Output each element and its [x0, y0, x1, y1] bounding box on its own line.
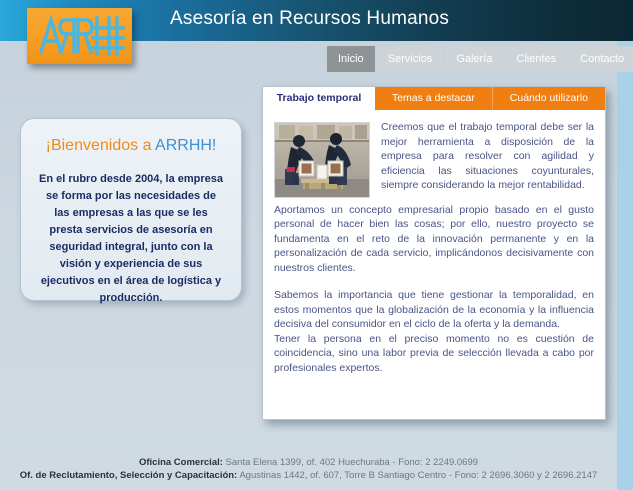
workers-photo [274, 122, 370, 198]
footer-line-2: Of. de Reclutamiento, Selección y Capaci… [0, 469, 617, 482]
nav-item-contacto[interactable]: Contacto [569, 46, 633, 72]
content-tabs[interactable]: Trabajo temporal Temas a destacar Cuándo… [263, 87, 605, 110]
welcome-title-part1: ¡Bienvenidos a [46, 137, 155, 154]
welcome-title: ¡Bienvenidos a ARRHH! [35, 137, 227, 155]
site-footer: Oficina Comercial: Santa Elena 1399, of.… [0, 456, 617, 482]
nav-item-servicios[interactable]: Servicios [377, 46, 444, 72]
tab-cuando-utilizarlo[interactable]: Cuándo utilizarlo [493, 87, 605, 110]
logo[interactable] [27, 8, 132, 64]
page-title: Asesoría en Recursos Humanos [170, 8, 449, 30]
welcome-body-text: En el rubro desde 2004, la empresa se fo… [35, 171, 227, 307]
nav-item-galeria[interactable]: Galería [445, 46, 503, 72]
content-body: Creemos que el trabajo temporal debe ser… [263, 110, 605, 375]
welcome-box: ¡Bienvenidos a ARRHH! En el rubro desde … [20, 118, 242, 301]
paragraph-2: Aportamos un concepto empresarial propio… [274, 203, 594, 276]
workers-warehouse-image [275, 123, 369, 197]
welcome-title-part2: ARRHH! [155, 137, 216, 154]
paragraph-4: Tener la persona en el preciso momento n… [274, 332, 594, 376]
footer-line-1-label: Oficina Comercial: [139, 457, 223, 468]
arrhh-logo-icon [27, 8, 132, 64]
footer-line-2-value: Agustinas 1442, of. 607, Torre B Santiag… [237, 470, 597, 481]
footer-line-1-value: Santa Elena 1399, of. 402 Huechuraba - F… [223, 457, 478, 468]
tab-temas-a-destacar[interactable]: Temas a destacar [375, 87, 493, 110]
content-panel: Trabajo temporal Temas a destacar Cuándo… [262, 86, 606, 420]
footer-line-1: Oficina Comercial: Santa Elena 1399, of.… [0, 456, 617, 469]
tab-trabajo-temporal[interactable]: Trabajo temporal [263, 87, 375, 110]
intro-row: Creemos que el trabajo temporal debe ser… [274, 120, 594, 203]
nav-item-clientes[interactable]: Clientes [505, 46, 567, 72]
page-root: Asesoría en Recursos Humanos [0, 0, 633, 490]
nav-item-inicio[interactable]: Inicio [327, 46, 375, 72]
footer-line-2-label: Of. de Reclutamiento, Selección y Capaci… [20, 470, 238, 481]
main-navigation[interactable]: Inicio Servicios Galería Clientes Contac… [327, 46, 633, 72]
paragraph-3: Sabemos la importancia que tiene gestion… [274, 288, 594, 332]
right-edge-strip [617, 0, 633, 490]
